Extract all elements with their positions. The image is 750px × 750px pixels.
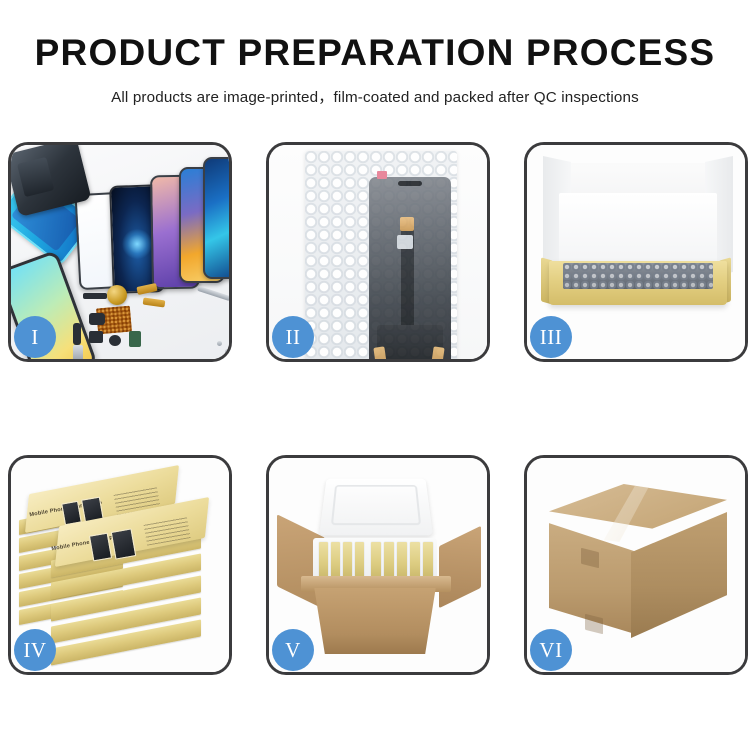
step-badge-3: III [530,316,572,358]
carton-content-slab-4 [355,542,364,580]
carton-content-slab-2 [331,542,340,580]
carton-content-slab-6 [384,542,394,580]
part-sim-tray [73,345,83,359]
process-step-panel-6: VI [524,455,748,675]
vibration-motor-icon [107,285,127,305]
carton-content-slab-8 [410,542,420,580]
lcd-notch [398,181,422,186]
process-steps-grid: I II [8,142,748,675]
bubble-wrapped-contents [563,263,713,289]
inner-box-tray-icon [549,261,727,305]
page-subtitle: All products are image-printed，film-coat… [0,85,750,107]
step-badge-6: VI [530,629,572,671]
lcd-gold-tab-right [430,346,444,359]
foam-lid-icon [319,479,433,536]
carton-body [309,588,441,654]
part-screw-2 [225,349,229,354]
part-speaker [89,331,103,343]
process-step-panel-3: III [524,142,748,362]
process-step-panel-2: II [266,142,490,362]
carton-content-slab-3 [343,542,352,580]
lcd-adhesive-tape [400,217,414,231]
step-badge-4: IV [14,629,56,671]
step-badge-2: II [272,316,314,358]
step-badge-1: I [14,316,56,358]
carton-content-slab-9 [423,542,433,580]
phone-blue-display-icon [203,157,229,279]
bubble-wrap-bag-icon [305,151,457,359]
lcd-screen-assembly-icon [369,177,451,359]
process-step-panel-4: Mobile Phone Spare Parts Mobile Phone Sp… [8,455,232,675]
page-title: PRODUCT PREPARATION PROCESS [0,34,750,73]
inner-box-foam-sheet [559,193,717,263]
part-camera-module [89,313,105,325]
part-connector-1 [83,293,107,299]
qc-sticker-icon [377,171,387,179]
part-screw-1 [217,341,222,346]
step-badge-5: V [272,629,314,671]
part-earpiece [109,335,121,346]
carton-content-slab-7 [397,542,407,580]
part-button-cable [73,323,81,345]
page-header: PRODUCT PREPARATION PROCESS All products… [0,0,750,107]
process-step-panel-1: I [8,142,232,362]
process-step-panel-5: V [266,455,490,675]
part-battery-cell [129,331,141,347]
carton-content-slab-1 [319,542,328,580]
carton-content-slab-5 [371,542,381,580]
lcd-driver-chip [397,235,413,249]
